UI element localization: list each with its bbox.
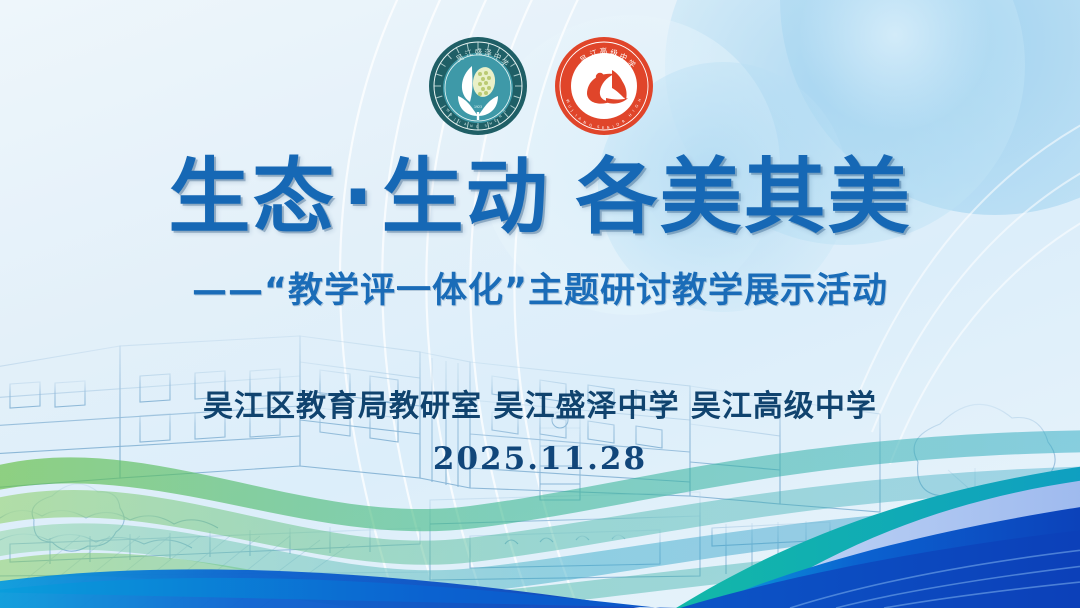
title-separator: · [336,150,381,245]
organizer-line: 吴江区教育局教研室 吴江盛泽中学 吴江高级中学 [0,381,1080,425]
event-date: 2025.11.28 [0,441,1080,477]
poster-text-block: 生态·生动各美其美 ——“教学评一体化”主题研讨教学展示活动 吴江区教育局教研室… [0,155,1080,477]
svg-text:1923: 1923 [474,105,482,109]
title-part-1: 生态 [168,150,336,245]
svg-text:泽: 泽 [484,48,493,58]
wujiang-senior-high-school-seal-icon: 吴 江 高 级 中 学 W U J I A N G S E [554,36,654,136]
school-emblem-row: 吴 江 盛 泽 中 学 W U J I A N G S H E [0,36,1080,134]
emblem-wujiang-shengze-middle-school: 吴 江 盛 泽 中 学 W U J I A N G S H E [428,36,526,134]
event-poster: 吴 江 盛 泽 中 学 W U J I A N G S H E [0,0,1080,608]
title-part-2: 生动 [382,150,550,245]
title-part-3: 各美其美 [576,150,912,245]
emblem-wujiang-senior-high-school: 吴 江 高 级 中 学 W U J I A N G S E [554,36,652,134]
page-title: 生态·生动各美其美 [0,155,1080,240]
shengze-middle-school-seal-icon: 吴 江 盛 泽 中 学 W U J I A N G S H E [428,36,528,136]
poster-subtitle: ——“教学评一体化”主题研讨教学展示活动 [0,262,1080,313]
